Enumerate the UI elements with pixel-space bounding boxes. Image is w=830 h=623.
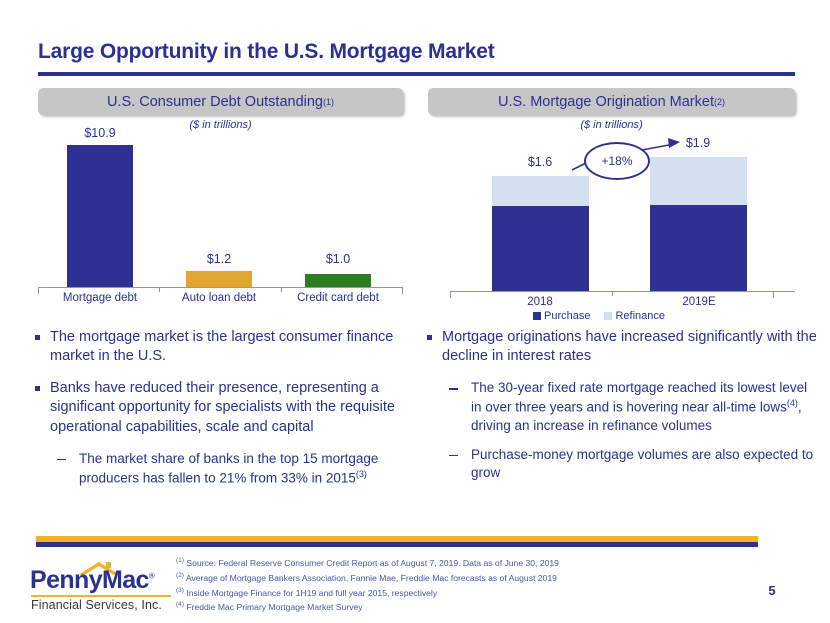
- bullet-list-right: Mortgage originations have increased sig…: [425, 328, 820, 482]
- bar-2018-refinance: [492, 176, 589, 206]
- category-label-2019e: 2019E: [656, 296, 742, 308]
- footnote-4-text: Freddie Mac Primary Mortgage Market Surv…: [186, 602, 362, 612]
- logo-tagline: Financial Services, Inc.: [31, 598, 162, 612]
- panel-header-consumer-debt: U.S. Consumer Debt Outstanding(1): [38, 88, 403, 115]
- bar-auto-loan-debt: [186, 271, 252, 287]
- footnote-1-text: Source: Federal Reserve Consumer Credit …: [186, 558, 559, 568]
- bullet-right-2: The 30-year fixed rate mortgage reached …: [447, 379, 820, 435]
- x-axis-tick-1-left: [159, 287, 160, 292]
- footnote-list: (1) Source: Federal Reserve Consumer Cre…: [176, 556, 716, 615]
- bullet-left-3: The market share of banks in the top 15 …: [55, 450, 425, 488]
- bullet-right-3: Purchase-money mortgage volumes are also…: [447, 446, 820, 482]
- bar-label-mortgage-debt: $10.9: [60, 126, 140, 140]
- logo-registered-mark: ®: [149, 572, 154, 581]
- bar-label-2019e-total: $1.9: [658, 136, 738, 150]
- bar-label-2018-total: $1.6: [500, 155, 580, 169]
- footnote-1: (1) Source: Federal Reserve Consumer Cre…: [176, 556, 716, 571]
- axis-cap-end-left: [402, 287, 403, 294]
- axis-cap-end-right: [773, 291, 774, 298]
- bullet-left-1: The mortgage market is the largest consu…: [33, 328, 425, 366]
- logo-wordmark: PennyMac®: [30, 566, 154, 595]
- bar-2019e-purchase: [650, 205, 747, 291]
- x-axis-tick-mid-right: [612, 291, 613, 296]
- panel-header-left-label: U.S. Consumer Debt Outstanding: [107, 94, 323, 110]
- page-title: Large Opportunity in the U.S. Mortgage M…: [38, 40, 495, 64]
- legend-label-refinance: Refinance: [615, 310, 665, 322]
- bullet-right-1: Mortgage originations have increased sig…: [425, 328, 820, 366]
- bullet-right-2-text-before: The 30-year fixed rate mortgage reached …: [471, 380, 807, 415]
- footnote-3-marker: (3): [176, 587, 184, 594]
- legend-swatch-purchase-icon: [533, 312, 541, 320]
- legend-swatch-refinance-icon: [604, 312, 612, 320]
- growth-callout-badge: +18%: [584, 142, 650, 180]
- bar-credit-card-debt: [305, 274, 371, 287]
- bar-2018-purchase: [492, 206, 589, 291]
- title-underline-rule: [38, 72, 795, 76]
- panel-header-origination-market: U.S. Mortgage Origination Market(2): [428, 88, 795, 115]
- category-label-credit-card-debt: Credit card debt: [292, 292, 384, 304]
- logo-wordmark-text: PennyMac: [30, 566, 149, 594]
- footnote-4-marker: (4): [176, 601, 184, 608]
- bullet-list-left: The mortgage market is the largest consu…: [33, 328, 425, 487]
- legend-item-refinance: Refinance: [604, 310, 665, 322]
- bullet-left-2: Banks have reduced their presence, repre…: [33, 379, 425, 436]
- footnote-4: (4) Freddie Mac Primary Mortgage Market …: [176, 600, 716, 615]
- x-axis-line-right: [450, 291, 795, 292]
- bar-label-credit-card-debt: $1.0: [298, 252, 378, 266]
- chart-origination-market: $1.6 2018 $1.9 2019E +18% Purchase Refin…: [428, 132, 795, 312]
- slide: Large Opportunity in the U.S. Mortgage M…: [0, 0, 830, 623]
- bullet-right-2-footnote-marker: (4): [787, 398, 798, 408]
- legend-label-purchase: Purchase: [544, 310, 590, 322]
- footer-rule-navy: [36, 542, 758, 547]
- x-axis-line-left: [38, 287, 403, 288]
- legend-item-purchase: Purchase: [533, 310, 590, 322]
- footnote-2: (2) Average of Mortgage Bankers Associat…: [176, 571, 716, 586]
- bar-label-auto-loan-debt: $1.2: [179, 252, 259, 266]
- axis-cap-start-left: [38, 287, 39, 294]
- footnote-1-marker: (1): [176, 557, 184, 564]
- bullet-left-3-footnote-marker: (3): [356, 469, 367, 479]
- panel-header-left-footnote-marker: (1): [323, 97, 334, 107]
- category-label-2018: 2018: [500, 296, 580, 308]
- footnote-3-text: Inside Mortgage Finance for 1H19 and ful…: [186, 587, 437, 597]
- pennymac-logo: PennyMac® Financial Services, Inc.: [28, 556, 178, 614]
- panel-header-right-footnote-marker: (2): [714, 97, 725, 107]
- axis-cap-start-right: [450, 291, 451, 298]
- logo-underline-rule: [31, 595, 171, 597]
- footnote-3: (3) Inside Mortgage Finance for 1H19 and…: [176, 586, 716, 601]
- footnote-2-marker: (2): [176, 572, 184, 579]
- bar-2019e-refinance: [650, 157, 747, 205]
- category-label-mortgage-debt: Mortgage debt: [55, 292, 145, 304]
- x-axis-tick-2-left: [281, 287, 282, 292]
- chart-legend-right: Purchase Refinance: [533, 310, 665, 322]
- bullet-left-3-text: The market share of banks in the top 15 …: [79, 451, 378, 486]
- panel-header-right-label: U.S. Mortgage Origination Market: [498, 94, 714, 110]
- bar-mortgage-debt: [67, 145, 133, 287]
- footnote-2-text: Average of Mortgage Bankers Association,…: [186, 573, 557, 583]
- page-number: 5: [760, 583, 784, 598]
- category-label-auto-loan-debt: Auto loan debt: [174, 292, 264, 304]
- chart-consumer-debt: $10.9 Mortgage debt $1.2 Auto loan debt …: [38, 132, 403, 312]
- units-label-right: ($ in trillions): [428, 119, 795, 131]
